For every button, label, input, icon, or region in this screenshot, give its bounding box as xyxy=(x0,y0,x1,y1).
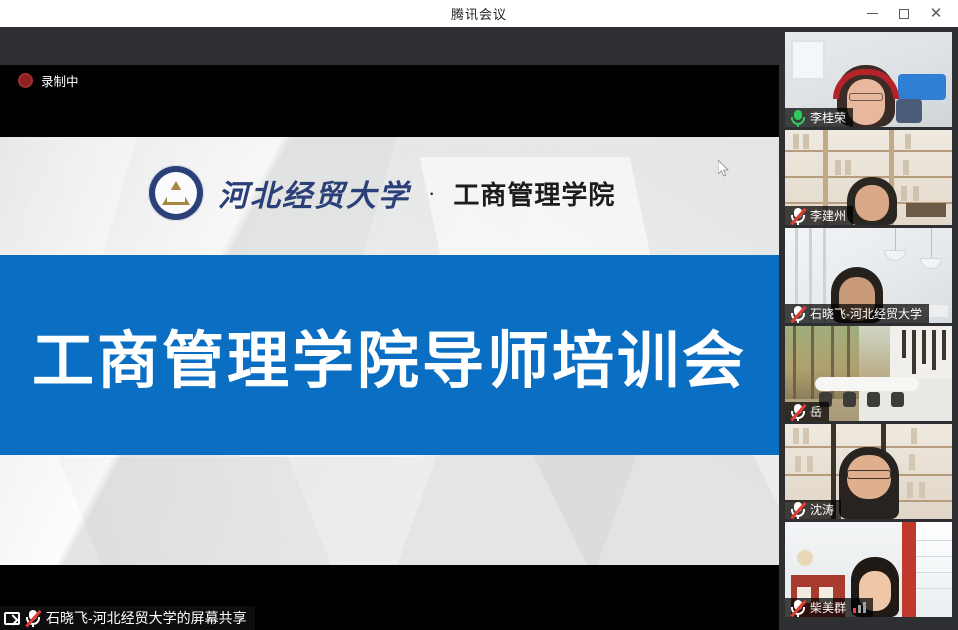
mic-muted-icon xyxy=(790,207,806,225)
mic-muted-icon xyxy=(790,305,806,323)
app-title: 腾讯会议 xyxy=(451,4,507,23)
minimize-icon xyxy=(867,13,878,14)
school-name: 工商管理学院 xyxy=(453,175,615,212)
mic-muted-icon xyxy=(790,501,806,519)
participant-name: 石晓飞-河北经贸大学 xyxy=(810,305,922,322)
title-bar: 腾讯会议 ✕ xyxy=(0,0,958,27)
screen-share-icon xyxy=(4,612,20,625)
maximize-button[interactable] xyxy=(888,0,920,27)
mic-on-icon xyxy=(790,109,806,127)
participant-name-badge: 李桂荣 xyxy=(785,108,853,127)
shared-screen-area[interactable]: 录制中 河北经贸大学 · 工商管理学院 工商管理学院导师培训会 xyxy=(0,27,779,630)
meeting-window: 腾讯会议 ✕ 录制中 河北经贸大学 · xyxy=(0,0,958,630)
recording-label: 录制中 xyxy=(41,71,79,90)
mic-muted-icon xyxy=(790,599,806,617)
participant-name-badge: 柴美群 xyxy=(785,598,873,617)
participant-name-badge: 沈涛 xyxy=(785,500,841,519)
network-signal-icon xyxy=(853,602,866,613)
window-controls: ✕ xyxy=(856,0,958,27)
participant-name-badge: 岳 xyxy=(785,402,829,421)
maximize-icon xyxy=(899,9,909,19)
share-top-strip xyxy=(0,27,779,65)
close-button[interactable]: ✕ xyxy=(920,0,952,27)
slide-title: 工商管理学院导师培训会 xyxy=(32,310,747,400)
university-name: 河北经贸大学 xyxy=(218,171,410,215)
mic-muted-icon xyxy=(790,403,806,421)
participant-name: 李桂荣 xyxy=(810,109,846,126)
screen-share-text: 石晓飞-河北经贸大学的屏幕共享 xyxy=(46,608,247,628)
participant-name: 沈涛 xyxy=(810,501,834,518)
mouse-cursor xyxy=(718,160,730,178)
mic-muted-icon xyxy=(25,609,41,627)
screen-share-label: 石晓飞-河北经贸大学的屏幕共享 xyxy=(0,606,255,630)
participant-name: 柴美群 xyxy=(810,599,846,616)
record-dot-icon xyxy=(18,73,33,88)
participant-tile[interactable]: 柴美群 xyxy=(785,522,952,617)
participant-tile[interactable]: 沈涛 xyxy=(785,424,952,519)
participant-name-badge: 李建州 xyxy=(785,206,853,225)
participant-name-badge: 石晓飞-河北经贸大学 xyxy=(785,304,929,323)
slide-facet xyxy=(58,457,332,565)
participant-name: 李建州 xyxy=(810,207,846,224)
presentation-slide: 河北经贸大学 · 工商管理学院 工商管理学院导师培训会 xyxy=(0,137,779,565)
logo-separator: · xyxy=(428,180,435,206)
participant-tile[interactable]: 李建州 xyxy=(785,130,952,225)
participant-name: 岳 xyxy=(810,403,822,420)
slide-title-band: 工商管理学院导师培训会 xyxy=(0,255,779,455)
university-logo: 河北经贸大学 · 工商管理学院 xyxy=(148,165,615,221)
participant-tile[interactable]: 李桂荣 xyxy=(785,32,952,127)
recording-indicator: 录制中 xyxy=(18,71,79,90)
participant-tile[interactable]: 石晓飞-河北经贸大学 xyxy=(785,228,952,323)
participant-tile[interactable]: 岳 xyxy=(785,326,952,421)
university-crest-icon xyxy=(148,165,204,221)
minimize-button[interactable] xyxy=(856,0,888,27)
participant-strip[interactable]: 李桂荣 李建州 xyxy=(779,27,958,630)
